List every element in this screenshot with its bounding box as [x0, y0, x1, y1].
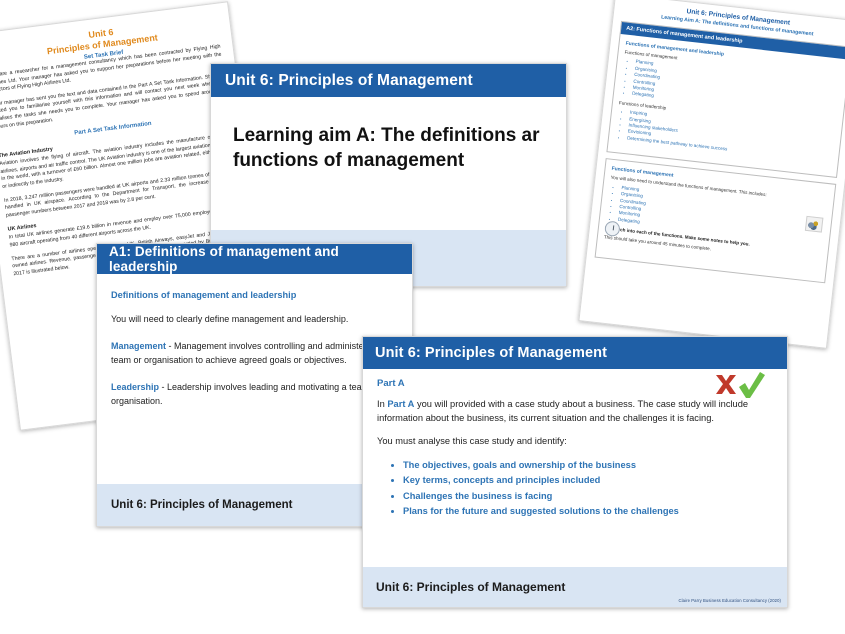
slide-parta-intro: In Part A you will provided with a case …	[377, 397, 773, 425]
slide-main-title: Learning aim A: The definitions ar funct…	[233, 123, 544, 173]
slide-a1-footer-text: Unit 6: Principles of Management	[111, 499, 292, 511]
doc-right-panel-a2: A2: Functions of management and leadersh…	[606, 21, 845, 178]
list-item: The objectives, goals and ownership of t…	[403, 458, 773, 474]
slide-parta-footer-band: Unit 6: Principles of Management Claire …	[363, 567, 787, 607]
copyright-credit: Claire Parry Business Education Consulta…	[678, 598, 781, 603]
functions-of-management-document[interactable]: Unit 6: Principles of Management Learnin…	[578, 0, 845, 349]
list-item: Challenges the business is facing	[403, 489, 773, 505]
slide-main-body: Learning aim A: The definitions ar funct…	[211, 97, 566, 173]
intro-rest: you will provided with a case study abou…	[377, 399, 748, 423]
list-item: Key terms, concepts and principles inclu…	[403, 473, 773, 489]
slide-part-a[interactable]: Unit 6: Principles of Management Part A …	[362, 336, 788, 608]
slide-parta-bullet-list: The objectives, goals and ownership of t…	[403, 458, 773, 520]
slide-a1-leadership-paragraph: Leadership - Leadership involves leading…	[111, 380, 398, 408]
doc-right-panel2-body: Functions of management You will also ne…	[596, 159, 835, 282]
slide-collage-canvas: Unit 6 Principles of Management Set Task…	[0, 0, 845, 634]
slide-parta-footer-text: Unit 6: Principles of Management	[376, 580, 565, 594]
slide-a1-header: A1: Definitions of management and leader…	[97, 244, 412, 274]
slide-main-header: Unit 6: Principles of Management	[211, 64, 566, 97]
doc-right-panel-functions: Functions of management You will also ne…	[595, 158, 837, 283]
books-clipart-icon	[805, 216, 824, 233]
slide-a1-subheading: Definitions of management and leadership	[111, 290, 398, 300]
slide-parta-analyse-line: You must analyse this case study and ide…	[377, 434, 773, 448]
list-item: Plans for the future and suggested solut…	[403, 504, 773, 520]
slide-parta-body: Part A In Part A you will provided with …	[363, 369, 787, 520]
management-keyword: Management	[111, 341, 166, 351]
intro-prefix: In	[377, 399, 387, 409]
check-icon	[735, 371, 767, 401]
slide-parta-header: Unit 6: Principles of Management	[363, 337, 787, 369]
cross-and-tick-graphic	[711, 371, 773, 401]
slide-a1-management-paragraph: Management - Management involves control…	[111, 339, 398, 367]
doc-right-panel-body: Functions of management and leadership F…	[607, 34, 845, 177]
intro-part-a-keyword: Part A	[387, 399, 414, 409]
leadership-keyword: Leadership	[111, 382, 159, 392]
slide-a1-intro-line: You will need to clearly define manageme…	[111, 312, 398, 326]
